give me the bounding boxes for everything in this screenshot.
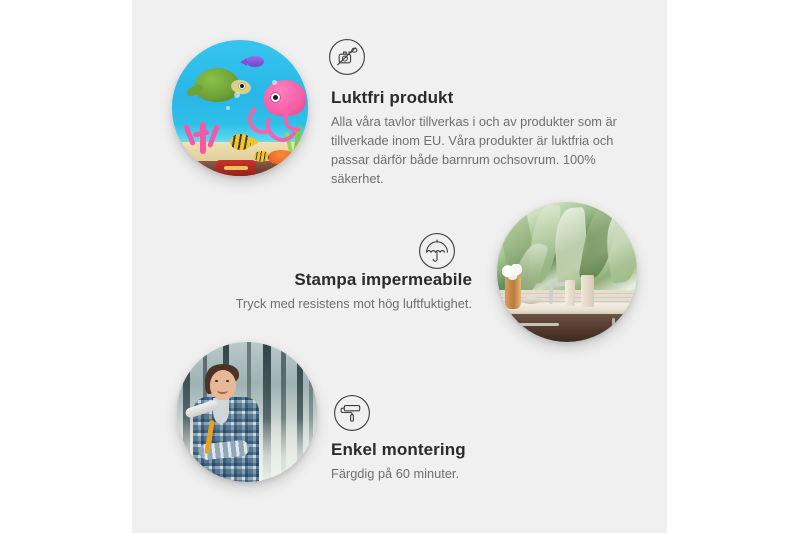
feature-block-assembly: Enkel montering Färgdig på 60 minuter. <box>331 440 611 484</box>
feature-block-odourless: Luktfri produkt Alla våra tavlor tillver… <box>331 88 631 189</box>
feature-title-odourless: Luktfri produkt <box>331 88 631 108</box>
feature-title-assembly: Enkel montering <box>331 440 611 460</box>
painter-forest-photo <box>177 342 317 482</box>
feature-body-assembly: Färgdig på 60 minuter. <box>331 465 611 484</box>
turtle-figure <box>194 68 240 102</box>
no-fragrance-bottle-icon <box>328 38 366 76</box>
feature-body-odourless: Alla våra tavlor tillverkas i och av pro… <box>331 113 631 188</box>
underwater-cartoon-photo <box>172 40 308 176</box>
feature-block-waterproof: Stampa impermeabile Tryck med resistens … <box>222 270 472 314</box>
bathroom-vanity-photo <box>497 202 637 342</box>
feature-title-waterproof: Stampa impermeabile <box>222 270 472 290</box>
infographic-canvas: Luktfri produkt Alla våra tavlor tillver… <box>0 0 800 533</box>
feature-body-waterproof: Tryck med resistens mot hög luftfuktighe… <box>222 295 472 314</box>
coral-decor <box>184 118 224 154</box>
umbrella-icon <box>418 232 456 270</box>
paint-roller-icon <box>333 394 371 432</box>
